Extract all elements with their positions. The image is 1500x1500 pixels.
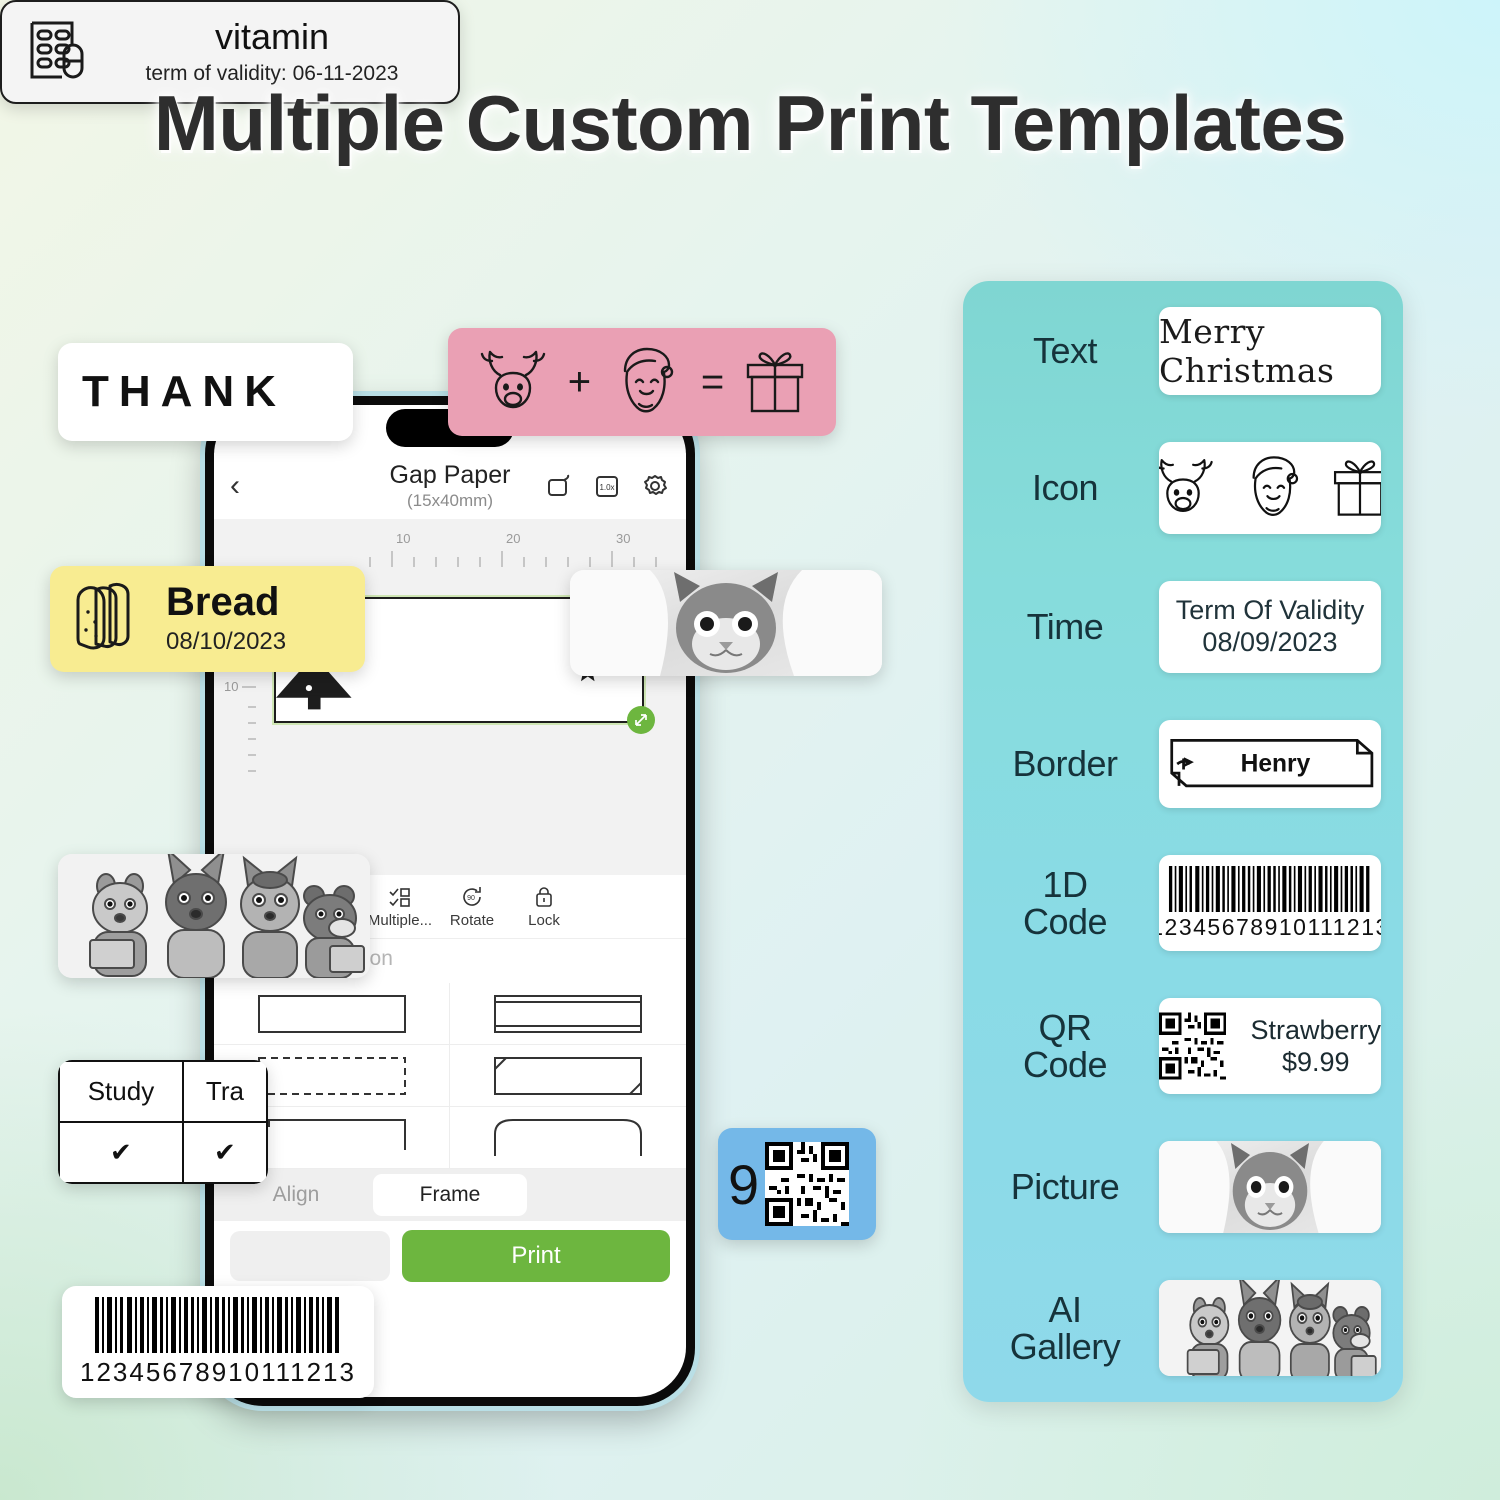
- panel-label-border: Border: [985, 745, 1145, 782]
- svg-text:30: 30: [616, 531, 630, 546]
- table-cell: ✔: [183, 1122, 267, 1183]
- panel-card-ai-gallery: [1159, 1280, 1381, 1376]
- svg-text:10: 10: [396, 531, 410, 546]
- gift-icon: [1327, 450, 1381, 527]
- tool-rotate[interactable]: 90 Rotate: [436, 884, 508, 929]
- panel-label-ai-line2: Gallery: [1010, 1326, 1121, 1367]
- sticker-thank: THANK: [58, 343, 353, 441]
- panel-row-icon: Icon: [985, 442, 1381, 534]
- frame-option[interactable]: [450, 1107, 686, 1169]
- qr-code-icon: [1159, 1007, 1226, 1085]
- panel-card-text: Merry Christmas: [1159, 307, 1381, 395]
- resize-handle-icon[interactable]: [627, 706, 655, 734]
- time-line2: 08/09/2023: [1202, 627, 1337, 657]
- panel-row-picture: Picture: [985, 1141, 1381, 1233]
- grayscale-cat-photo: [570, 570, 882, 676]
- page-title: Multiple Custom Print Templates: [0, 78, 1500, 169]
- panel-row-time: Time Term Of Validity 08/09/2023: [985, 581, 1381, 673]
- tool-lock-label: Lock: [528, 912, 560, 929]
- sticker-qr-blue: 9: [718, 1128, 876, 1240]
- rotate-90-icon: 90: [436, 884, 508, 910]
- secondary-action-button[interactable]: [230, 1231, 390, 1281]
- bread-title: Bread: [166, 582, 286, 622]
- barcode-image: [93, 1297, 343, 1353]
- ruler-horizontal: 10 20 30: [250, 529, 686, 571]
- qr-product-name: Strawberry: [1250, 1014, 1381, 1046]
- app-bar: ‹ Gap Paper (15x40mm) 1.0x: [214, 453, 686, 519]
- plus-symbol: +: [568, 360, 591, 405]
- panel-label-time: Time: [985, 608, 1145, 645]
- table-row: ✔ ✔: [59, 1122, 267, 1183]
- barcode-number: 12345678910111213: [1159, 914, 1381, 941]
- multi-select-icon: [364, 884, 436, 910]
- bread-date: 08/10/2023: [166, 628, 286, 656]
- panel-label-qr-line1: QR: [1039, 1007, 1092, 1048]
- panel-label-text: Text: [985, 332, 1145, 369]
- panel-card-border: Henry: [1159, 720, 1381, 808]
- santa-icon: [1237, 450, 1309, 527]
- bottom-segment-control: Align Frame: [214, 1169, 686, 1221]
- print-button[interactable]: Print: [402, 1230, 670, 1282]
- time-template-text: Term Of Validity 08/09/2023: [1176, 595, 1365, 659]
- svg-text:1.0x: 1.0x: [599, 483, 614, 492]
- panel-label-qr-code: QR Code: [985, 1009, 1145, 1083]
- app-bar-actions: 1.0x: [544, 471, 670, 501]
- barcode-image: [1159, 866, 1381, 912]
- santa-icon: [607, 341, 685, 424]
- grayscale-cat-photo: [1159, 1141, 1381, 1233]
- ai-cartoon-animals: [58, 854, 370, 978]
- segment-frame[interactable]: Frame: [373, 1174, 527, 1216]
- sticker-ai-animals: [58, 854, 370, 978]
- panel-card-picture: [1159, 1141, 1381, 1233]
- bottom-action-bar: Print: [214, 1221, 686, 1291]
- tool-multiple-label: Multiple...: [368, 912, 432, 929]
- zoom-1x-icon[interactable]: 1.0x: [592, 471, 622, 501]
- panel-label-icon: Icon: [985, 469, 1145, 506]
- frame-option[interactable]: [450, 983, 686, 1045]
- sticker-cat-picture: [570, 570, 882, 676]
- qr-blue-text: 9: [728, 1152, 759, 1217]
- qr-product-text: Strawberry $9.99: [1240, 1014, 1381, 1079]
- table-header-cell: Study: [59, 1061, 183, 1122]
- bread-text: Bread 08/10/2023: [166, 582, 286, 656]
- tool-lock[interactable]: Lock: [508, 884, 580, 929]
- border-frame-graphic: Henry: [1159, 728, 1381, 800]
- barcode-number: 12345678910111213: [80, 1357, 356, 1388]
- gift-icon: [740, 341, 810, 424]
- svg-text:20: 20: [506, 531, 520, 546]
- tool-multiple[interactable]: Multiple...: [364, 884, 436, 929]
- qr-code-icon: [765, 1142, 849, 1226]
- tool-rotate-label: Rotate: [450, 912, 494, 929]
- table-cell: ✔: [59, 1122, 183, 1183]
- settings-gear-icon[interactable]: [640, 471, 670, 501]
- panel-label-ai-gallery: AI Gallery: [985, 1291, 1145, 1365]
- panel-label-ai-line1: AI: [1048, 1289, 1081, 1330]
- panel-label-picture: Picture: [985, 1168, 1145, 1205]
- panel-card-qr-code: Strawberry $9.99: [1159, 998, 1381, 1094]
- panel-label-qr-line2: Code: [1023, 1044, 1107, 1085]
- merry-christmas-text: Merry Christmas: [1159, 312, 1381, 390]
- reindeer-icon: [1159, 450, 1219, 527]
- sticker-study-table: Study Tra ✔ ✔: [58, 1060, 268, 1184]
- lock-icon: [508, 884, 580, 910]
- panel-card-icon: [1159, 442, 1381, 534]
- panel-label-1d-code: 1D Code: [985, 866, 1145, 940]
- rotate-paper-icon[interactable]: [544, 471, 574, 501]
- time-line1: Term Of Validity: [1176, 595, 1365, 625]
- back-chevron-icon[interactable]: ‹: [230, 471, 266, 501]
- vitamin-title: vitamin: [108, 19, 436, 55]
- panel-row-text: Text Merry Christmas: [985, 307, 1381, 395]
- qr-product-price: $9.99: [1250, 1046, 1381, 1078]
- reindeer-icon: [474, 341, 552, 424]
- panel-card-time: Term Of Validity 08/09/2023: [1159, 581, 1381, 673]
- ai-cartoon-animals: [1159, 1280, 1381, 1376]
- panel-label-1d-line1: 1D: [1042, 864, 1087, 905]
- svg-text:90: 90: [467, 895, 475, 902]
- frame-option[interactable]: [450, 1045, 686, 1107]
- sticker-christmas-equation: + =: [448, 328, 836, 436]
- table-header-cell: Tra: [183, 1061, 267, 1122]
- vitamin-text: vitamin term of validity: 06-11-2023: [108, 19, 436, 86]
- bread-slices-icon: [66, 576, 152, 663]
- pill-blister-icon: [24, 17, 90, 88]
- svg-text:10: 10: [224, 679, 238, 694]
- panel-row-ai-gallery: AI Gallery: [985, 1280, 1381, 1376]
- panel-card-1d-code: 12345678910111213: [1159, 855, 1381, 951]
- thank-text: THANK: [82, 367, 286, 417]
- sticker-barcode: 12345678910111213: [62, 1286, 374, 1398]
- border-name-text: Henry: [1241, 750, 1311, 777]
- study-table: Study Tra ✔ ✔: [58, 1060, 268, 1184]
- feature-panel: Text Merry Christmas Icon: [963, 281, 1403, 1402]
- equals-symbol: =: [701, 360, 724, 405]
- panel-row-qr-code: QR Code: [985, 998, 1381, 1094]
- frame-grid: [214, 983, 686, 1169]
- panel-row-border: Border Henry: [985, 720, 1381, 808]
- sticker-bread: Bread 08/10/2023: [50, 566, 365, 672]
- frame-option[interactable]: [214, 983, 450, 1045]
- panel-label-1d-line2: Code: [1023, 901, 1107, 942]
- panel-row-1d-code: 1D Code: [985, 855, 1381, 951]
